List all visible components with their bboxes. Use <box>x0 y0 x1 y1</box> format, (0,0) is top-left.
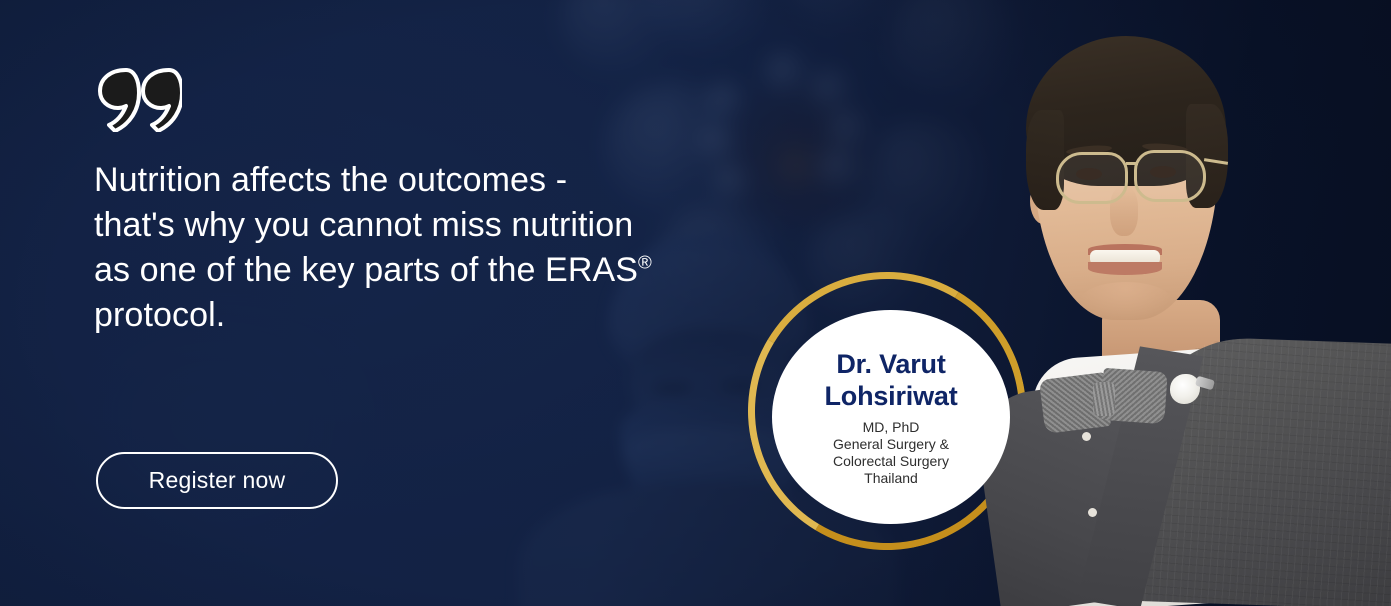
registered-trademark-symbol: ® <box>638 252 652 273</box>
speaker-portrait-photo <box>930 0 1391 606</box>
quotation-mark-icon <box>96 66 182 132</box>
eyeglasses-icon <box>1056 152 1128 204</box>
speaker-name: Dr. Varut Lohsiriwat <box>824 348 957 412</box>
register-now-button[interactable]: Register now <box>96 452 338 509</box>
speaker-credentials: MD, PhD General Surgery & Colorectal Sur… <box>833 419 949 487</box>
quote-text-main: Nutrition affects the outcomes - that's … <box>94 161 638 289</box>
quote-text-tail: protocol. <box>94 296 225 334</box>
webinar-promo-banner: Nutrition affects the outcomes - that's … <box>0 0 1391 606</box>
speaker-name-badge: Dr. Varut Lohsiriwat MD, PhD General Sur… <box>772 310 1010 524</box>
quote-text: Nutrition affects the outcomes - that's … <box>94 158 694 338</box>
